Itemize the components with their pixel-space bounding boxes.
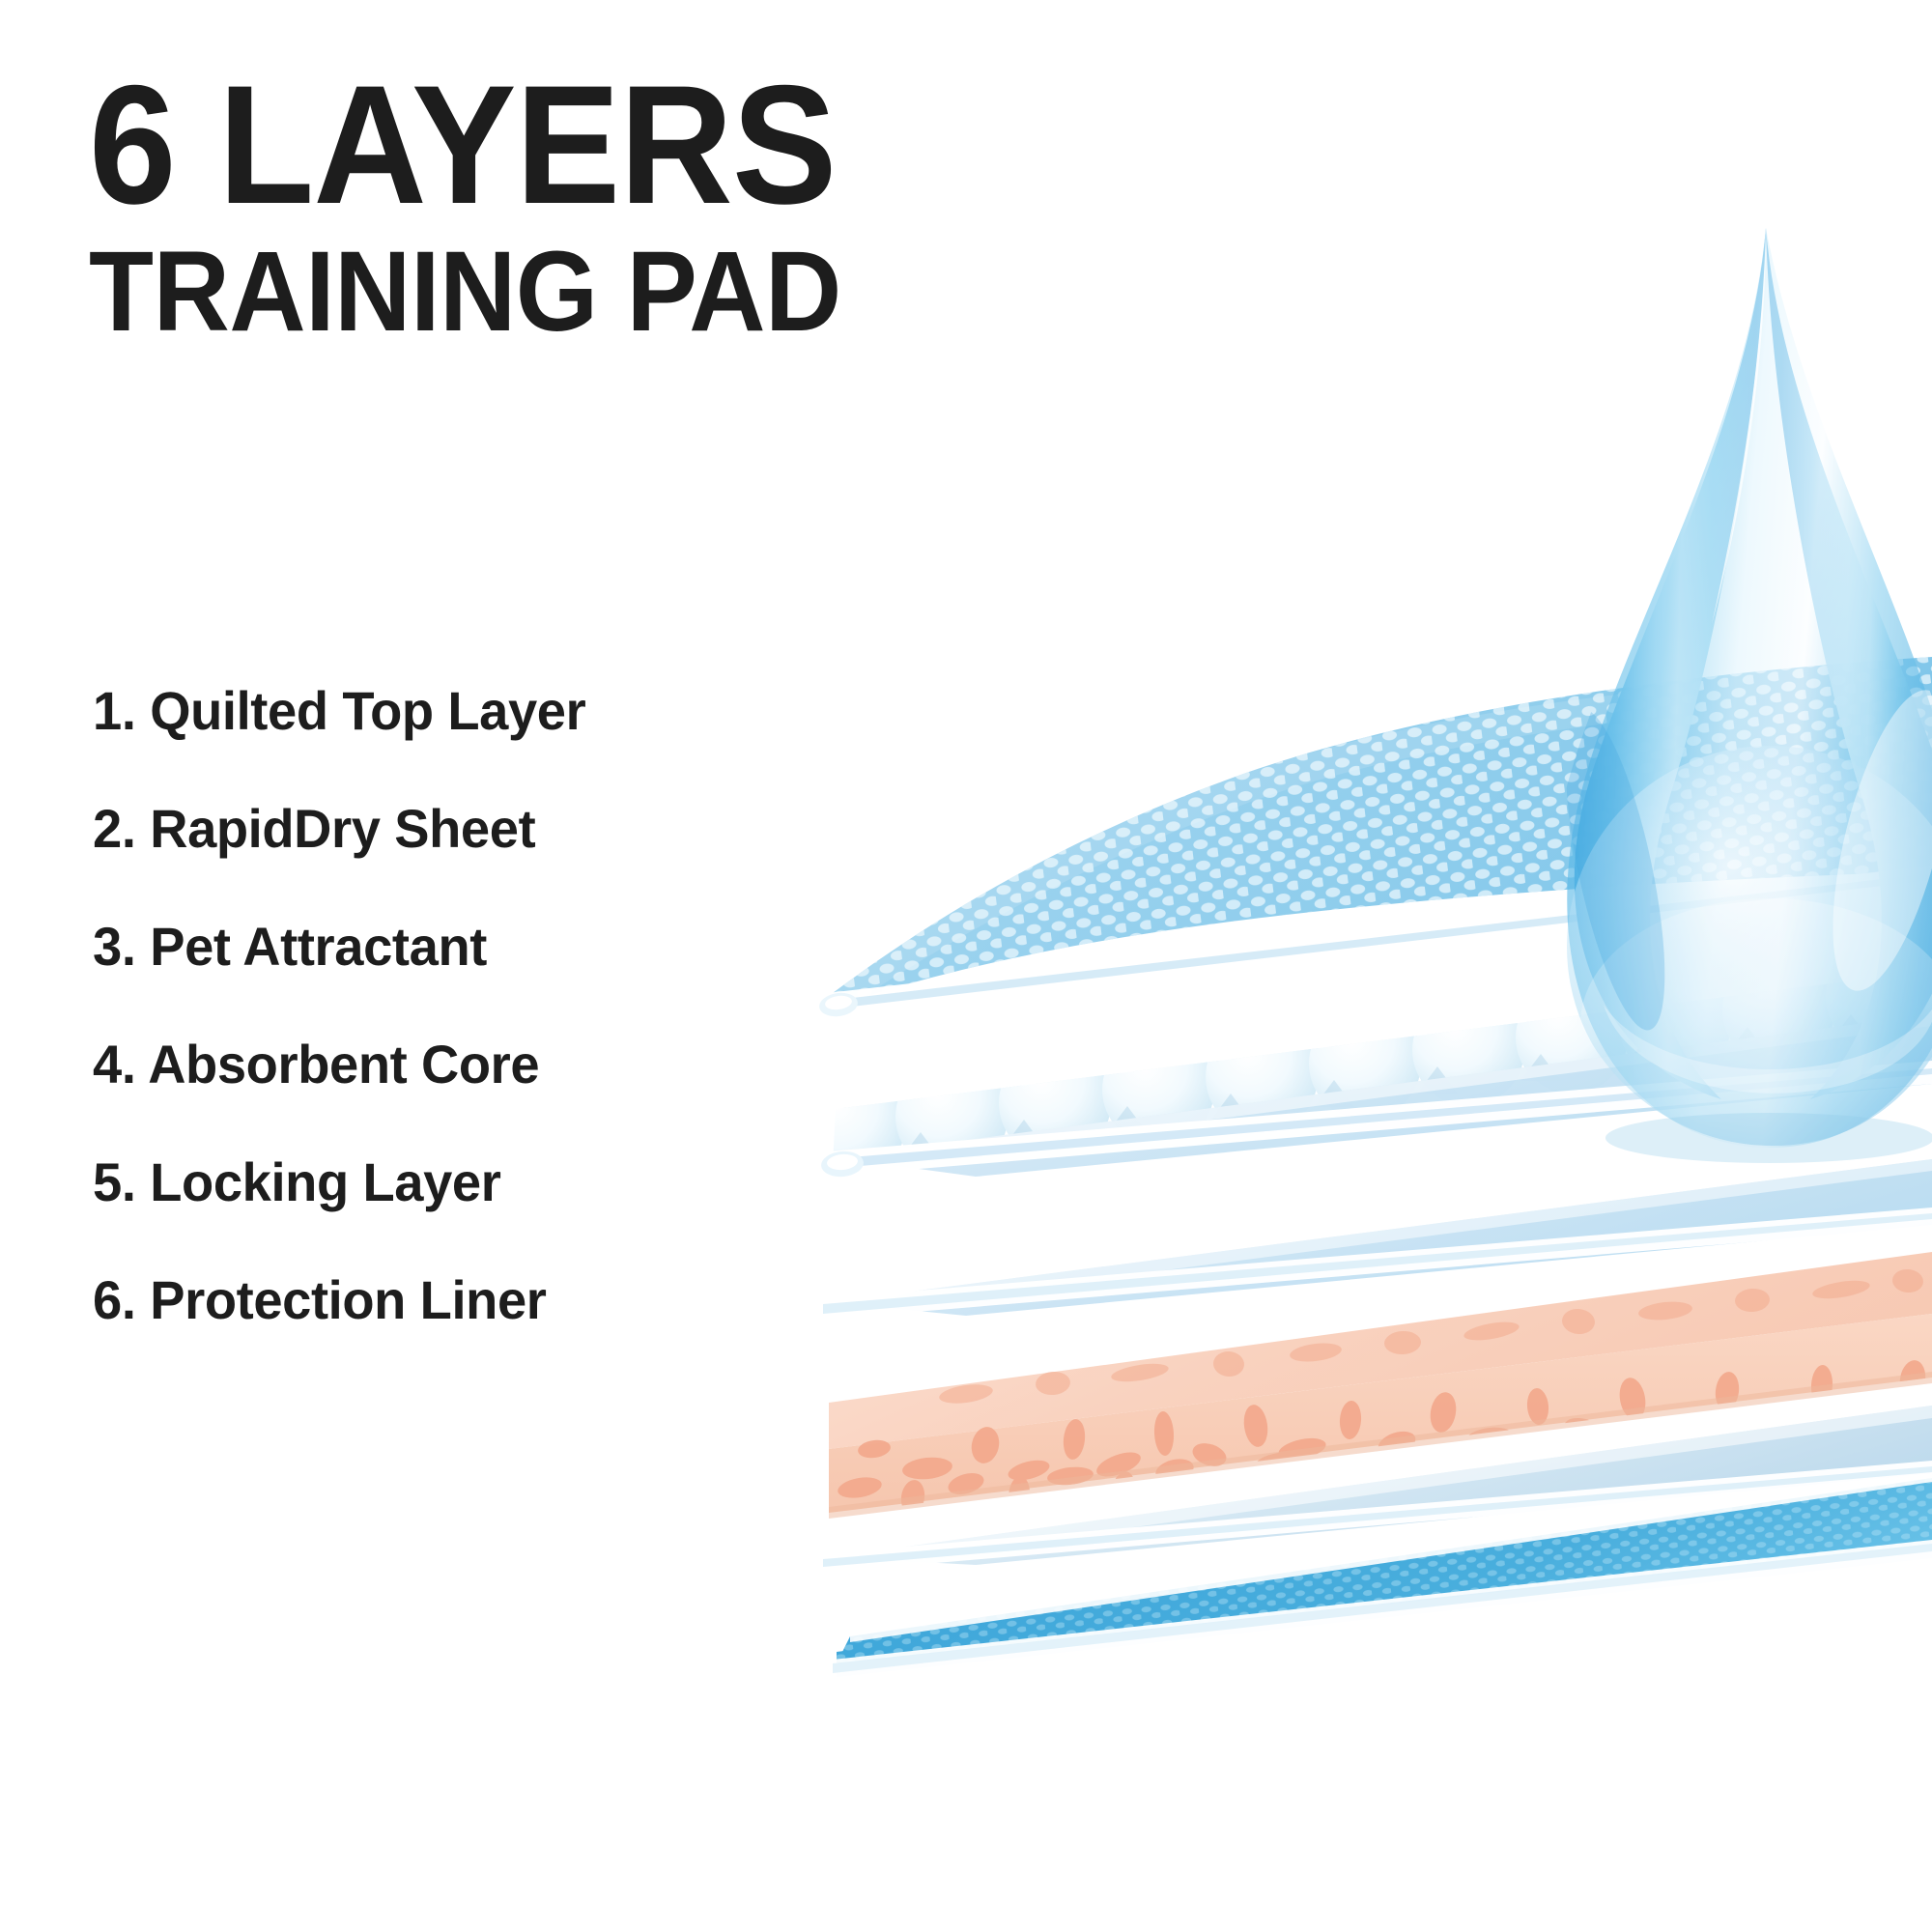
layer-sheet-mid (823, 1159, 1932, 1320)
layer-list: 1. Quilted Top Layer 2. RapidDry Sheet 3… (93, 652, 730, 1359)
infographic-canvas: 6 LAYERS TRAINING PAD 1. Quilted Top Lay… (0, 0, 1932, 1932)
layer-quilted-top (818, 657, 1932, 1019)
layer-absorbent-core (829, 1252, 1932, 1519)
layer-list-item-1: 1. Quilted Top Layer (93, 652, 711, 770)
headline-line-2: TRAINING PAD (89, 235, 1077, 349)
headline-line-1: 6 LAYERS (89, 68, 1077, 223)
layer-sheet-lower (823, 1406, 1932, 1573)
layer-list-item-6: 6. Protection Liner (93, 1241, 711, 1359)
layer-list-item-4: 4. Absorbent Core (93, 1006, 711, 1123)
layer-list-item-3: 3. Pet Attractant (93, 888, 711, 1006)
core-speckles (837, 1268, 1930, 1517)
layer-absorbent-beads (796, 895, 1932, 1182)
water-drop (1545, 228, 1932, 1163)
headline-block: 6 LAYERS TRAINING PAD (89, 68, 1151, 349)
layer-protection-liner (833, 1472, 1932, 1681)
layer-list-item-5: 5. Locking Layer (93, 1123, 711, 1241)
layer-list-item-2: 2. RapidDry Sheet (93, 770, 711, 888)
